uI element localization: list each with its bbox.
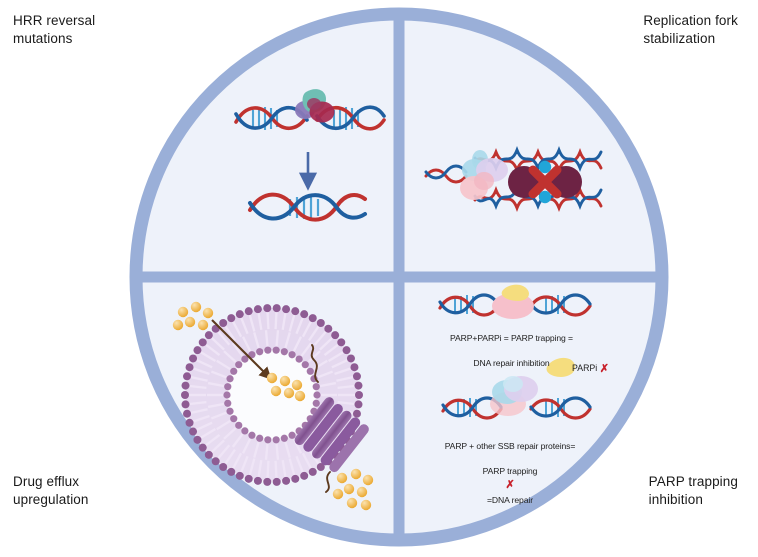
parpi-legend-label: PARPi ✗ [572,362,609,375]
diagram-canvas: HRR reversal mutations Replication fork … [0,0,758,557]
quadrant-wheel [0,0,758,557]
caption-parp-trapping-line1: PARP+PARPi = PARP trapping = [450,333,573,343]
helicase-complex [508,161,582,203]
label-drug-efflux-upregulation: Drug efflux upregulation [13,473,89,509]
ssb-x-icon: ✗ [505,479,514,491]
parpi-legend-text: PARPi [572,363,597,373]
caption-ssb-line2-after: =DNA repair [487,495,533,505]
caption-ssb-line2-before: PARP trapping [483,466,538,476]
ssb-protein-highlight [503,376,523,392]
parpi-x-icon: ✗ [600,363,609,375]
caption-parp-trapping-line2: DNA repair inhibition [473,358,549,368]
label-replication-fork-stabilization: Replication fork stabilization [643,12,738,48]
caption-ssb-line1: PARP + other SSB repair proteins= [445,441,576,451]
label-hrr-reversal-mutations: HRR reversal mutations [13,12,95,48]
label-parp-trapping-inhibition: PARP trapping inhibition [649,473,738,509]
caption-ssb-repair: PARP + other SSB repair proteins= PARP t… [400,428,620,506]
